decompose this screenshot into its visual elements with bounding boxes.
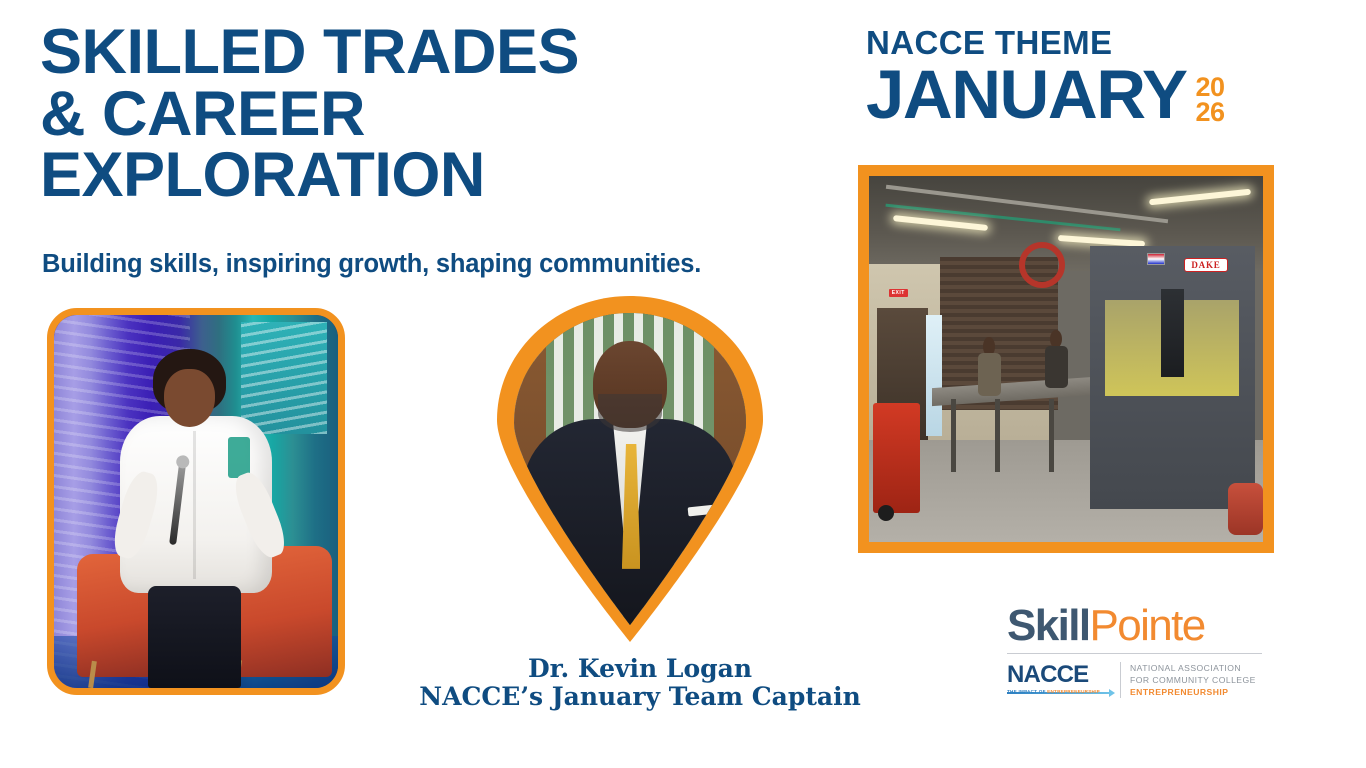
nacce-tagline: THE IMPACT OF ENTREPRENEURSHIP <box>1007 689 1111 694</box>
speaker-figure <box>116 349 275 688</box>
speaker-face <box>164 369 215 427</box>
exit-sign: EXIT <box>889 289 908 297</box>
subtitle: Building skills, inspiring growth, shapi… <box>42 250 701 279</box>
nacce-descriptor-line-3: ENTREPRENEURSHIP <box>1130 686 1256 698</box>
nacce-wordmark: NACCE <box>1007 663 1111 687</box>
press-ram <box>1161 289 1185 377</box>
nacce-tagline-highlight: ENTREPRENEURSHIP <box>1047 689 1100 694</box>
portrait-beard <box>598 394 663 431</box>
nacce-logo-divider <box>1120 662 1121 698</box>
nacce-logo: NACCE THE IMPACT OF ENTREPRENEURSHIP NAT… <box>1007 662 1262 699</box>
skillpointe-logo: SkillPointe <box>1007 604 1262 648</box>
theme-heading: NACCE THEME JANUARY 20 26 <box>866 26 1336 126</box>
theme-year-bottom: 26 <box>1195 100 1224 125</box>
coat-emblem <box>228 437 250 478</box>
shop-tool-cart <box>873 403 920 513</box>
shop-student-2 <box>1042 330 1070 389</box>
workshop-photo: EXIT DAKE <box>869 176 1263 542</box>
shop-student-1 <box>975 337 1003 396</box>
nacce-wordmark-block: NACCE THE IMPACT OF ENTREPRENEURSHIP <box>1007 663 1111 698</box>
portrait-pin <box>497 296 763 642</box>
nacce-descriptor-line-1: NATIONAL ASSOCIATION <box>1130 662 1256 674</box>
speaker-photo <box>54 315 338 688</box>
speaker-trousers <box>148 586 240 688</box>
portrait-photo <box>514 313 746 625</box>
workshop-photo-frame: EXIT DAKE <box>858 165 1274 553</box>
theme-year: 20 26 <box>1195 75 1224 125</box>
theme-kicker: NACCE THEME <box>866 26 1336 59</box>
captain-name: Dr. Kevin Logan <box>330 655 950 683</box>
logo-divider <box>1007 653 1262 654</box>
captain-role: NACCE’s January Team Captain <box>330 683 950 711</box>
logo-lockup: SkillPointe NACCE THE IMPACT OF ENTREPRE… <box>1007 604 1262 699</box>
speaker-photo-frame <box>47 308 345 695</box>
shop-doorway-light <box>926 315 942 436</box>
theme-month-row: JANUARY 20 26 <box>866 63 1336 126</box>
headline-line-2: & CAREER <box>40 84 760 146</box>
nacce-descriptor: NATIONAL ASSOCIATION FOR COMMUNITY COLLE… <box>1130 662 1256 699</box>
skillpointe-pointe: Pointe <box>1090 601 1205 650</box>
headline-line-1: SKILLED TRADES <box>40 22 760 84</box>
nacce-descriptor-line-2: FOR COMMUNITY COLLEGE <box>1130 674 1256 686</box>
press-brand-label: DAKE <box>1184 258 1227 272</box>
nacce-tagline-prefix: THE IMPACT OF <box>1007 689 1047 694</box>
poster-canvas: SKILLED TRADES & CAREER EXPLORATION Buil… <box>0 0 1366 768</box>
page-title: SKILLED TRADES & CAREER EXPLORATION <box>40 22 760 207</box>
flag-sticker-icon <box>1147 253 1165 265</box>
shop-hose-reel <box>1019 242 1065 288</box>
nacce-tagline-block: THE IMPACT OF ENTREPRENEURSHIP <box>1007 689 1111 698</box>
portrait-caption: Dr. Kevin Logan NACCE’s January Team Cap… <box>330 655 950 711</box>
theme-month: JANUARY <box>866 63 1186 126</box>
shop-air-tank <box>1228 483 1263 534</box>
skillpointe-skill: Skill <box>1007 601 1090 650</box>
headline-line-3: EXPLORATION <box>40 145 760 207</box>
